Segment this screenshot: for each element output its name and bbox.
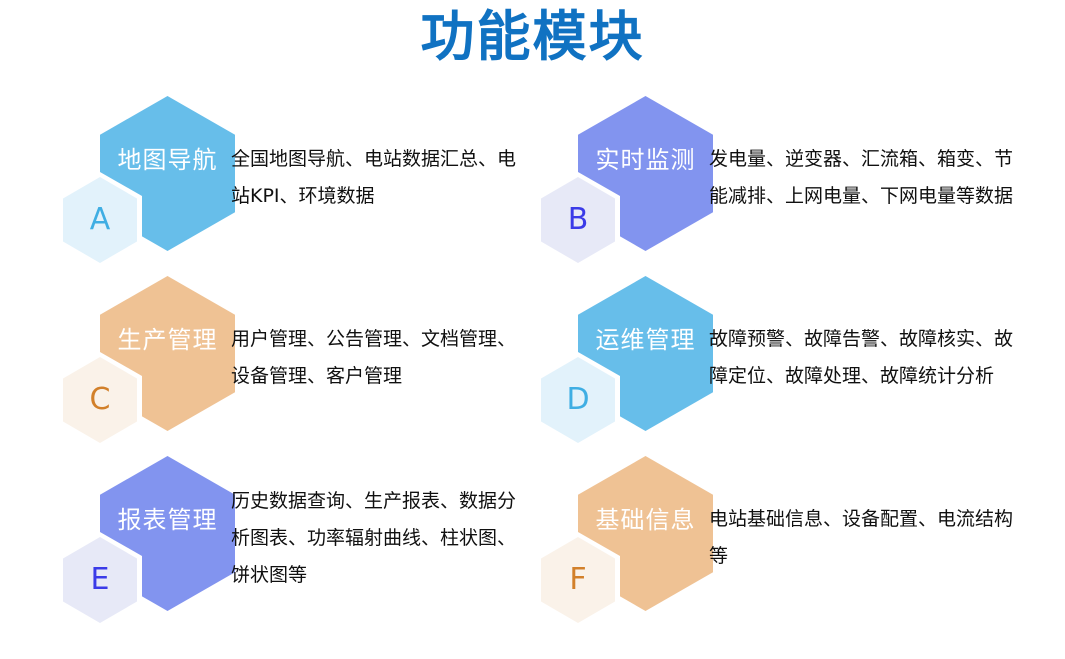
module-desc-wrap-f: 电站基础信息、设备配置、电流结构等 — [709, 448, 1024, 628]
module-letter-e: E — [91, 565, 110, 595]
hexagon-cluster-b: 实时监测 B — [533, 88, 723, 268]
module-card-a[interactable]: 地图导航 A 全国地图导航、电站数据汇总、电站KPI、环境数据 — [35, 88, 535, 268]
module-desc-d: 故障预警、故障告警、故障核实、故障定位、故障处理、故障统计分析 — [709, 321, 1024, 395]
module-name-d: 运维管理 — [596, 326, 696, 354]
page-title: 功能模块 — [0, 2, 1065, 72]
hexagon-cluster-f: 基础信息 F — [533, 448, 723, 628]
module-desc-e: 历史数据查询、生产报表、数据分析图表、功率辐射曲线、柱状图、饼状图等 — [231, 483, 531, 594]
module-desc-wrap-c: 用户管理、公告管理、文档管理、设备管理、客户管理 — [231, 268, 531, 448]
module-card-c[interactable]: 生产管理 C 用户管理、公告管理、文档管理、设备管理、客户管理 — [35, 268, 535, 448]
module-name-f: 基础信息 — [596, 506, 696, 534]
module-desc-f: 电站基础信息、设备配置、电流结构等 — [709, 501, 1024, 575]
hexagon-cluster-d: 运维管理 D — [533, 268, 723, 448]
module-letter-a: A — [90, 205, 111, 235]
module-desc-wrap-e: 历史数据查询、生产报表、数据分析图表、功率辐射曲线、柱状图、饼状图等 — [231, 448, 531, 628]
hexagon-cluster-e: 报表管理 E — [55, 448, 245, 628]
module-grid: 地图导航 A 全国地图导航、电站数据汇总、电站KPI、环境数据 实时监测 B 发… — [0, 88, 1065, 648]
module-letter-b: B — [568, 205, 589, 235]
module-name-c: 生产管理 — [118, 326, 218, 354]
module-name-b: 实时监测 — [596, 146, 696, 174]
module-desc-wrap-a: 全国地图导航、电站数据汇总、电站KPI、环境数据 — [231, 88, 531, 268]
module-desc-b: 发电量、逆变器、汇流箱、箱变、节能减排、上网电量、下网电量等数据 — [709, 141, 1024, 215]
hexagon-cluster-a: 地图导航 A — [55, 88, 245, 268]
module-card-b[interactable]: 实时监测 B 发电量、逆变器、汇流箱、箱变、节能减排、上网电量、下网电量等数据 — [515, 88, 1015, 268]
module-name-a: 地图导航 — [118, 146, 218, 174]
module-card-f[interactable]: 基础信息 F 电站基础信息、设备配置、电流结构等 — [515, 448, 1015, 628]
module-card-d[interactable]: 运维管理 D 故障预警、故障告警、故障核实、故障定位、故障处理、故障统计分析 — [515, 268, 1015, 448]
module-card-e[interactable]: 报表管理 E 历史数据查询、生产报表、数据分析图表、功率辐射曲线、柱状图、饼状图… — [35, 448, 535, 628]
module-letter-d: D — [566, 385, 589, 415]
module-letter-f: F — [569, 565, 586, 595]
module-desc-c: 用户管理、公告管理、文档管理、设备管理、客户管理 — [231, 321, 531, 395]
module-letter-c: C — [90, 385, 111, 415]
hexagon-cluster-c: 生产管理 C — [55, 268, 245, 448]
module-name-e: 报表管理 — [118, 506, 218, 534]
module-desc-a: 全国地图导航、电站数据汇总、电站KPI、环境数据 — [231, 141, 531, 215]
module-desc-wrap-b: 发电量、逆变器、汇流箱、箱变、节能减排、上网电量、下网电量等数据 — [709, 88, 1024, 268]
module-desc-wrap-d: 故障预警、故障告警、故障核实、故障定位、故障处理、故障统计分析 — [709, 268, 1024, 448]
